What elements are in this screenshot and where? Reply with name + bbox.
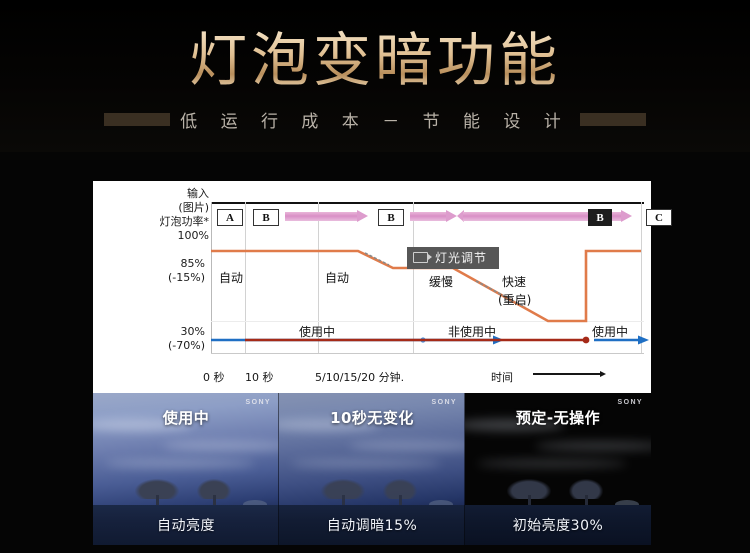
series-not-in-use-dot [583,337,590,344]
x-axis-label-time: 时间 [491,369,513,385]
x-tick-minutes: 5/10/15/20 分钟. [315,369,404,385]
photo-3-caption: 初始亮度30% [513,515,604,535]
subtitle-left-bar [104,113,170,126]
chart-series-svg [93,181,651,393]
page-subtitle: 低 运 行 成 本 － 节 能 设 计 [180,107,570,132]
dimmer-tooltip-label: 灯光调节 [435,249,487,266]
cloud [349,441,465,451]
photo-1-caption: 自动亮度 [157,515,215,535]
series-in-use-right-arrow [638,336,649,345]
label-not-in-use: 非使用中 [448,323,496,340]
photo-strip: 使用中 SONY 自动亮度 10秒无变化 [93,393,651,545]
label-slow: 缓慢 [429,273,453,290]
x-tick-10s: 10 秒 [245,369,274,385]
time-direction-arrow [533,373,601,375]
label-restart: (重启) [498,291,531,308]
header-banner: 灯泡变暗功能 低 运 行 成 本 － 节 能 设 计 [0,0,750,152]
subtitle-row: 低 运 行 成 本 － 节 能 设 计 [0,104,750,134]
photo-2-caption: 自动调暗15% [327,515,418,535]
dimmer-icon [413,252,428,263]
photo-3-caption-band: 初始亮度30% [465,505,651,545]
label-in-use-right: 使用中 [592,323,628,340]
x-tick-0s: 0 秒 [203,369,225,385]
photo-2-caption-band: 自动调暗15% [279,505,465,545]
cloud [477,459,627,468]
dimming-chart: 输入 (图片) 灯泡功率* 100% 85% (-15%) 30% (-70%) [93,181,651,393]
photo-card-1[interactable]: 使用中 SONY 自动亮度 [93,393,279,545]
sony-watermark: SONY [432,399,457,406]
page-title: 灯泡变暗功能 [0,28,750,92]
photo-3-title: 预定-无操作 [465,407,651,428]
cloud [291,459,441,468]
subtitle-right-bar [580,113,646,126]
photo-card-2[interactable]: 10秒无变化 SONY 自动调暗15% [279,393,465,545]
cloud [163,441,279,451]
label-auto-1: 自动 [219,269,243,286]
photo-1-caption-band: 自动亮度 [93,505,279,545]
chart-panel: 输入 (图片) 灯泡功率* 100% 85% (-15%) 30% (-70%) [93,181,651,393]
x-axis-ticks: 0 秒 10 秒 5/10/15/20 分钟. 时间 [93,367,651,387]
label-in-use-left: 使用中 [299,323,335,340]
cloud [535,441,651,451]
photo-1-title: 使用中 [93,407,279,428]
page-root: 灯泡变暗功能 低 运 行 成 本 － 节 能 设 计 输入 (图片) 灯泡功率*… [0,0,750,553]
photo-card-3[interactable]: 预定-无操作 SONY 初始亮度30% [465,393,651,545]
sony-watermark: SONY [618,399,643,406]
label-fast: 快速 [502,273,526,290]
cloud [105,459,255,468]
photo-2-title: 10秒无变化 [279,407,465,428]
label-auto-2: 自动 [325,269,349,286]
dimmer-tooltip[interactable]: 灯光调节 [407,247,499,269]
sony-watermark: SONY [246,399,271,406]
